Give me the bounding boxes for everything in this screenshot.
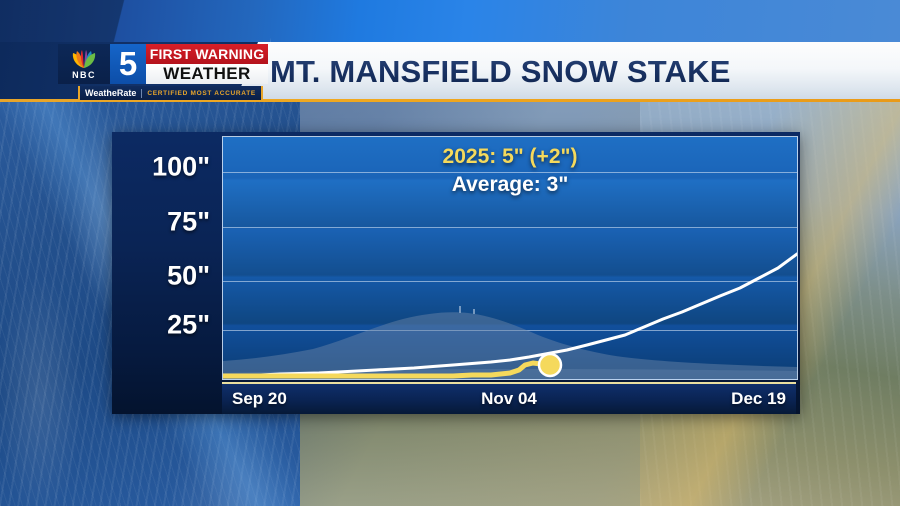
y-tick-50: 50"	[167, 263, 210, 290]
x-axis-strip: Sep 20 Nov 04 Dec 19	[222, 382, 796, 414]
series-2025-end-marker	[539, 354, 561, 376]
weatherate-tagline: CERTIFIED MOST ACCURATE	[147, 90, 256, 97]
y-tick-100: 100"	[152, 154, 210, 181]
y-tick-25: 25"	[167, 312, 210, 339]
x-tick-end: Dec 19	[731, 389, 786, 409]
top-color-band	[0, 0, 900, 42]
y-tick-75: 75"	[167, 209, 210, 236]
snow-stake-chart-card: 100" 75" 50" 25"	[112, 132, 800, 414]
x-tick-middle: Nov 04	[481, 389, 537, 409]
plot-area: 2025: 5" (+2") Average: 3"	[222, 136, 798, 380]
y-axis-labels: 100" 75" 50" 25"	[112, 132, 220, 380]
page-title: MT. MANSFIELD SNOW STAKE	[270, 50, 731, 94]
annotation-current-year: 2025: 5" (+2")	[223, 145, 797, 169]
nbc-peacock-block: NBC	[58, 44, 110, 84]
brand-weather: WEATHER	[146, 64, 268, 84]
broadcast-graphic: MT. MANSFIELD SNOW STAKE NBC 5	[0, 0, 900, 506]
series-average-line	[223, 254, 797, 375]
channel-number: 5	[110, 44, 146, 84]
weatherate-name: WeatheRate	[85, 88, 136, 98]
station-logo: NBC 5 FIRST WARNING WEATHER	[58, 44, 268, 84]
nbc-wordmark: NBC	[72, 70, 96, 80]
badge-divider	[141, 89, 142, 98]
weatherate-badge: WeatheRate CERTIFIED MOST ACCURATE	[78, 86, 263, 100]
annotation-average: Average: 3"	[223, 173, 797, 197]
peacock-icon	[69, 49, 99, 69]
first-warning-weather-lockup: FIRST WARNING WEATHER	[146, 44, 268, 84]
brand-first-warning: FIRST WARNING	[146, 44, 268, 64]
x-tick-start: Sep 20	[232, 389, 287, 409]
